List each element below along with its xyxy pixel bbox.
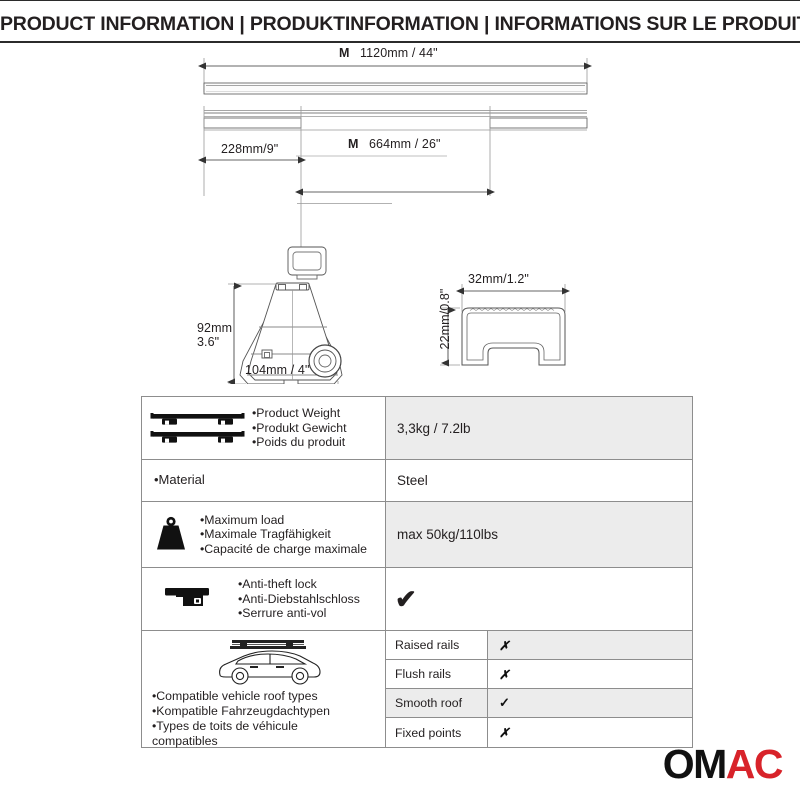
profile-width-dimension: 32mm/1.2" — [468, 272, 529, 286]
lock-icon — [142, 584, 238, 614]
foot-height-in: 3.6" — [197, 335, 219, 349]
foot-width-dimension: 104mm / 4" — [245, 363, 310, 377]
roof-type-row-fixed-points: Fixed points ✗ — [386, 718, 692, 747]
bar-length-prefix: M — [339, 46, 350, 60]
row-label-text-lock: •Anti-theft lock •Anti-Diebstahlschloss … — [238, 577, 360, 621]
foot-height-mm: 92mm — [197, 321, 232, 335]
profile-height-dimension: 22mm/0.8" — [438, 274, 452, 364]
table-row-product-weight: •Product Weight •Produkt Gewicht •Poids … — [142, 397, 692, 460]
row-label-cell-maxload: •Maximum load •Maximale Tragfähigkeit •C… — [142, 502, 386, 567]
crossbars-icon — [142, 407, 252, 449]
row-label-cell-weight: •Product Weight •Produkt Gewicht •Poids … — [142, 397, 386, 459]
table-row-material: •Material Steel — [142, 460, 692, 502]
roof-types-subtable: Raised rails ✗ Flush rails ✗ Smooth roof… — [386, 631, 692, 747]
row-value-material: Steel — [386, 460, 692, 501]
roof-type-name-smooth-roof: Smooth roof — [386, 689, 488, 717]
roof-type-mark-flush-rails: ✗ — [488, 660, 692, 688]
car-with-rack-icon — [210, 637, 326, 694]
roof-type-row-flush-rails: Flush rails ✗ — [386, 660, 692, 689]
row-label-text-material: •Material — [142, 473, 205, 488]
roof-type-name-fixed-points: Fixed points — [386, 718, 488, 747]
row-value-lock-checkmark: ✔ — [386, 568, 692, 630]
bar-length-value: 1120mm / 44" — [360, 46, 438, 60]
weight-icon — [142, 515, 200, 555]
roof-type-mark-smooth-roof: ✓ — [488, 689, 692, 717]
roof-type-name-raised-rails: Raised rails — [386, 631, 488, 659]
logo-text-om: OM — [663, 741, 726, 787]
logo-text-ac: AC — [726, 741, 782, 787]
drawing-svg — [0, 44, 800, 384]
row-label-text-maxload: •Maximum load •Maximale Tragfähigkeit •C… — [200, 513, 367, 557]
roof-type-mark-fixed-points: ✗ — [488, 718, 692, 747]
row-label-text-roof-types: •Compatible vehicle roof types •Kompatib… — [152, 689, 384, 749]
roof-type-row-smooth-roof: Smooth roof ✓ — [386, 689, 692, 718]
row-value-weight: 3,3kg / 7.2lb — [386, 397, 692, 459]
foot-spacing-value: 664mm / 26" — [369, 137, 441, 151]
table-row-maximum-load: •Maximum load •Maximale Tragfähigkeit •C… — [142, 502, 692, 568]
row-label-cell-material: •Material — [142, 460, 386, 501]
title-divider — [0, 41, 800, 43]
product-information-sheet: PRODUCT INFORMATION | PRODUKTINFORMATION… — [0, 0, 800, 800]
foot-spacing-prefix: M — [348, 137, 359, 151]
roof-type-mark-raised-rails: ✗ — [488, 631, 692, 659]
technical-drawings: M 1120mm / 44" 228mm/9" M 664mm / 26" 92… — [0, 44, 800, 384]
table-row-roof-types: •Compatible vehicle roof types •Kompatib… — [142, 631, 692, 747]
profile-cross-section — [462, 308, 565, 365]
foot-offset-dimension: 228mm/9" — [221, 142, 278, 156]
omac-logo: OMAC — [663, 744, 782, 785]
specification-table: •Product Weight •Produkt Gewicht •Poids … — [141, 396, 693, 748]
foot-height-dimension: 92mm 3.6" — [197, 321, 232, 349]
roof-type-row-raised-rails: Raised rails ✗ — [386, 631, 692, 660]
row-label-text-weight: •Product Weight •Produkt Gewicht •Poids … — [252, 406, 347, 450]
page-title: PRODUCT INFORMATION | PRODUKTINFORMATION… — [0, 13, 800, 36]
row-label-cell-roof-types: •Compatible vehicle roof types •Kompatib… — [142, 631, 386, 747]
top-divider — [0, 0, 800, 1]
row-value-maxload: max 50kg/110lbs — [386, 502, 692, 567]
row-label-cell-lock: •Anti-theft lock •Anti-Diebstahlschloss … — [142, 568, 386, 630]
roof-type-name-flush-rails: Flush rails — [386, 660, 488, 688]
table-row-anti-theft-lock: •Anti-theft lock •Anti-Diebstahlschloss … — [142, 568, 692, 631]
